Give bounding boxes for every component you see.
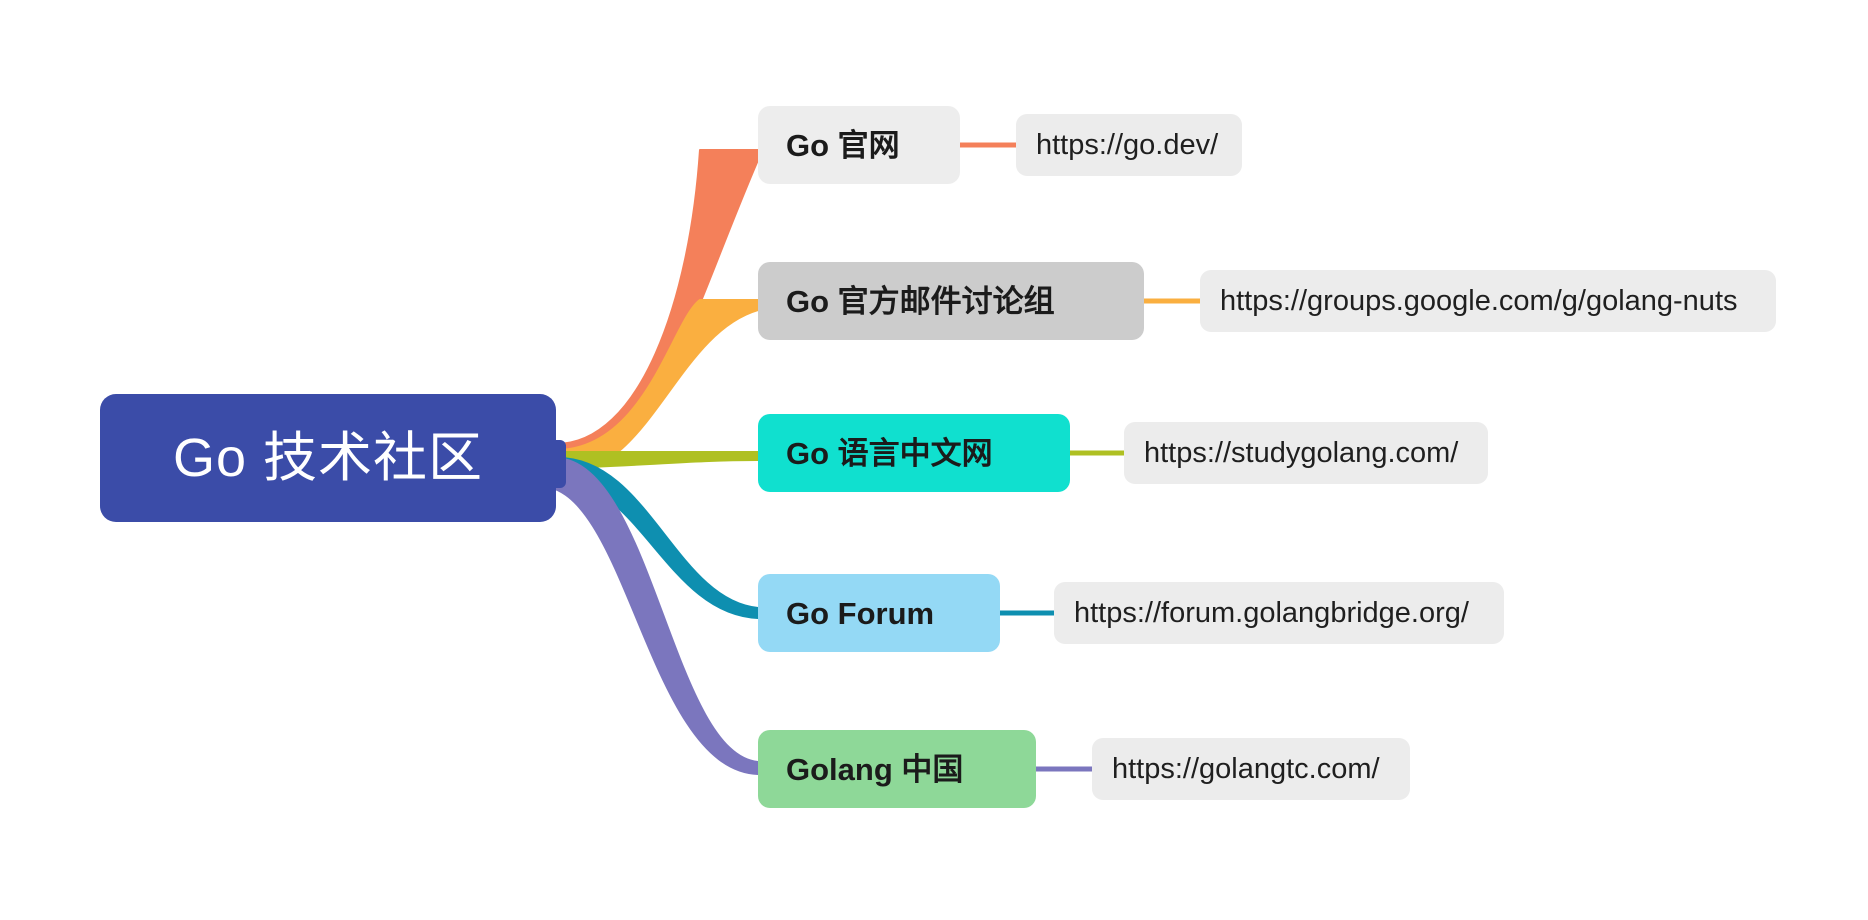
url-node-studygolang[interactable]: https://studygolang.com/ — [1124, 422, 1488, 484]
topic-node-go-forum[interactable]: Go Forum — [758, 574, 1000, 652]
url-node-go-official-site[interactable]: https://go.dev/ — [1016, 114, 1242, 176]
connector-curve-studygolang — [556, 452, 758, 468]
topic-node-label: Go 语言中文网 — [786, 438, 993, 469]
topic-node-studygolang[interactable]: Go 语言中文网 — [758, 414, 1070, 492]
url-node-label: https://forum.golangbridge.org/ — [1074, 599, 1469, 628]
url-node-go-forum[interactable]: https://forum.golangbridge.org/ — [1054, 582, 1504, 644]
connector-curve-go-official-site — [556, 150, 758, 472]
url-node-label: https://go.dev/ — [1036, 131, 1218, 160]
url-node-label: https://golangtc.com/ — [1112, 755, 1380, 784]
topic-node-label: Go 官方邮件讨论组 — [786, 286, 1055, 317]
topic-node-label: Go Forum — [786, 598, 934, 629]
url-node-label: https://groups.google.com/g/golang-nuts — [1220, 287, 1738, 316]
connector-curve-go-mailing-list — [556, 300, 758, 474]
connector-curve-go-forum — [552, 458, 758, 618]
topic-node-label: Golang 中国 — [786, 754, 963, 785]
url-node-golang-china[interactable]: https://golangtc.com/ — [1092, 738, 1410, 800]
url-node-go-mailing-list[interactable]: https://groups.google.com/g/golang-nuts — [1200, 270, 1776, 332]
topic-node-label: Go 官网 — [786, 130, 900, 161]
url-node-label: https://studygolang.com/ — [1144, 439, 1458, 468]
topic-node-golang-china[interactable]: Golang 中国 — [758, 730, 1036, 808]
root-node[interactable]: Go 技术社区 — [100, 394, 556, 522]
topic-node-go-official-site[interactable]: Go 官网 — [758, 106, 960, 184]
root-node-label: Go 技术社区 — [173, 431, 483, 485]
connector-curve-golang-china — [540, 458, 758, 774]
topic-node-go-mailing-list[interactable]: Go 官方邮件讨论组 — [758, 262, 1144, 340]
mindmap-canvas: Go 技术社区 Go 官网 Go 官方邮件讨论组 Go 语言中文网 Go For… — [0, 0, 1868, 920]
